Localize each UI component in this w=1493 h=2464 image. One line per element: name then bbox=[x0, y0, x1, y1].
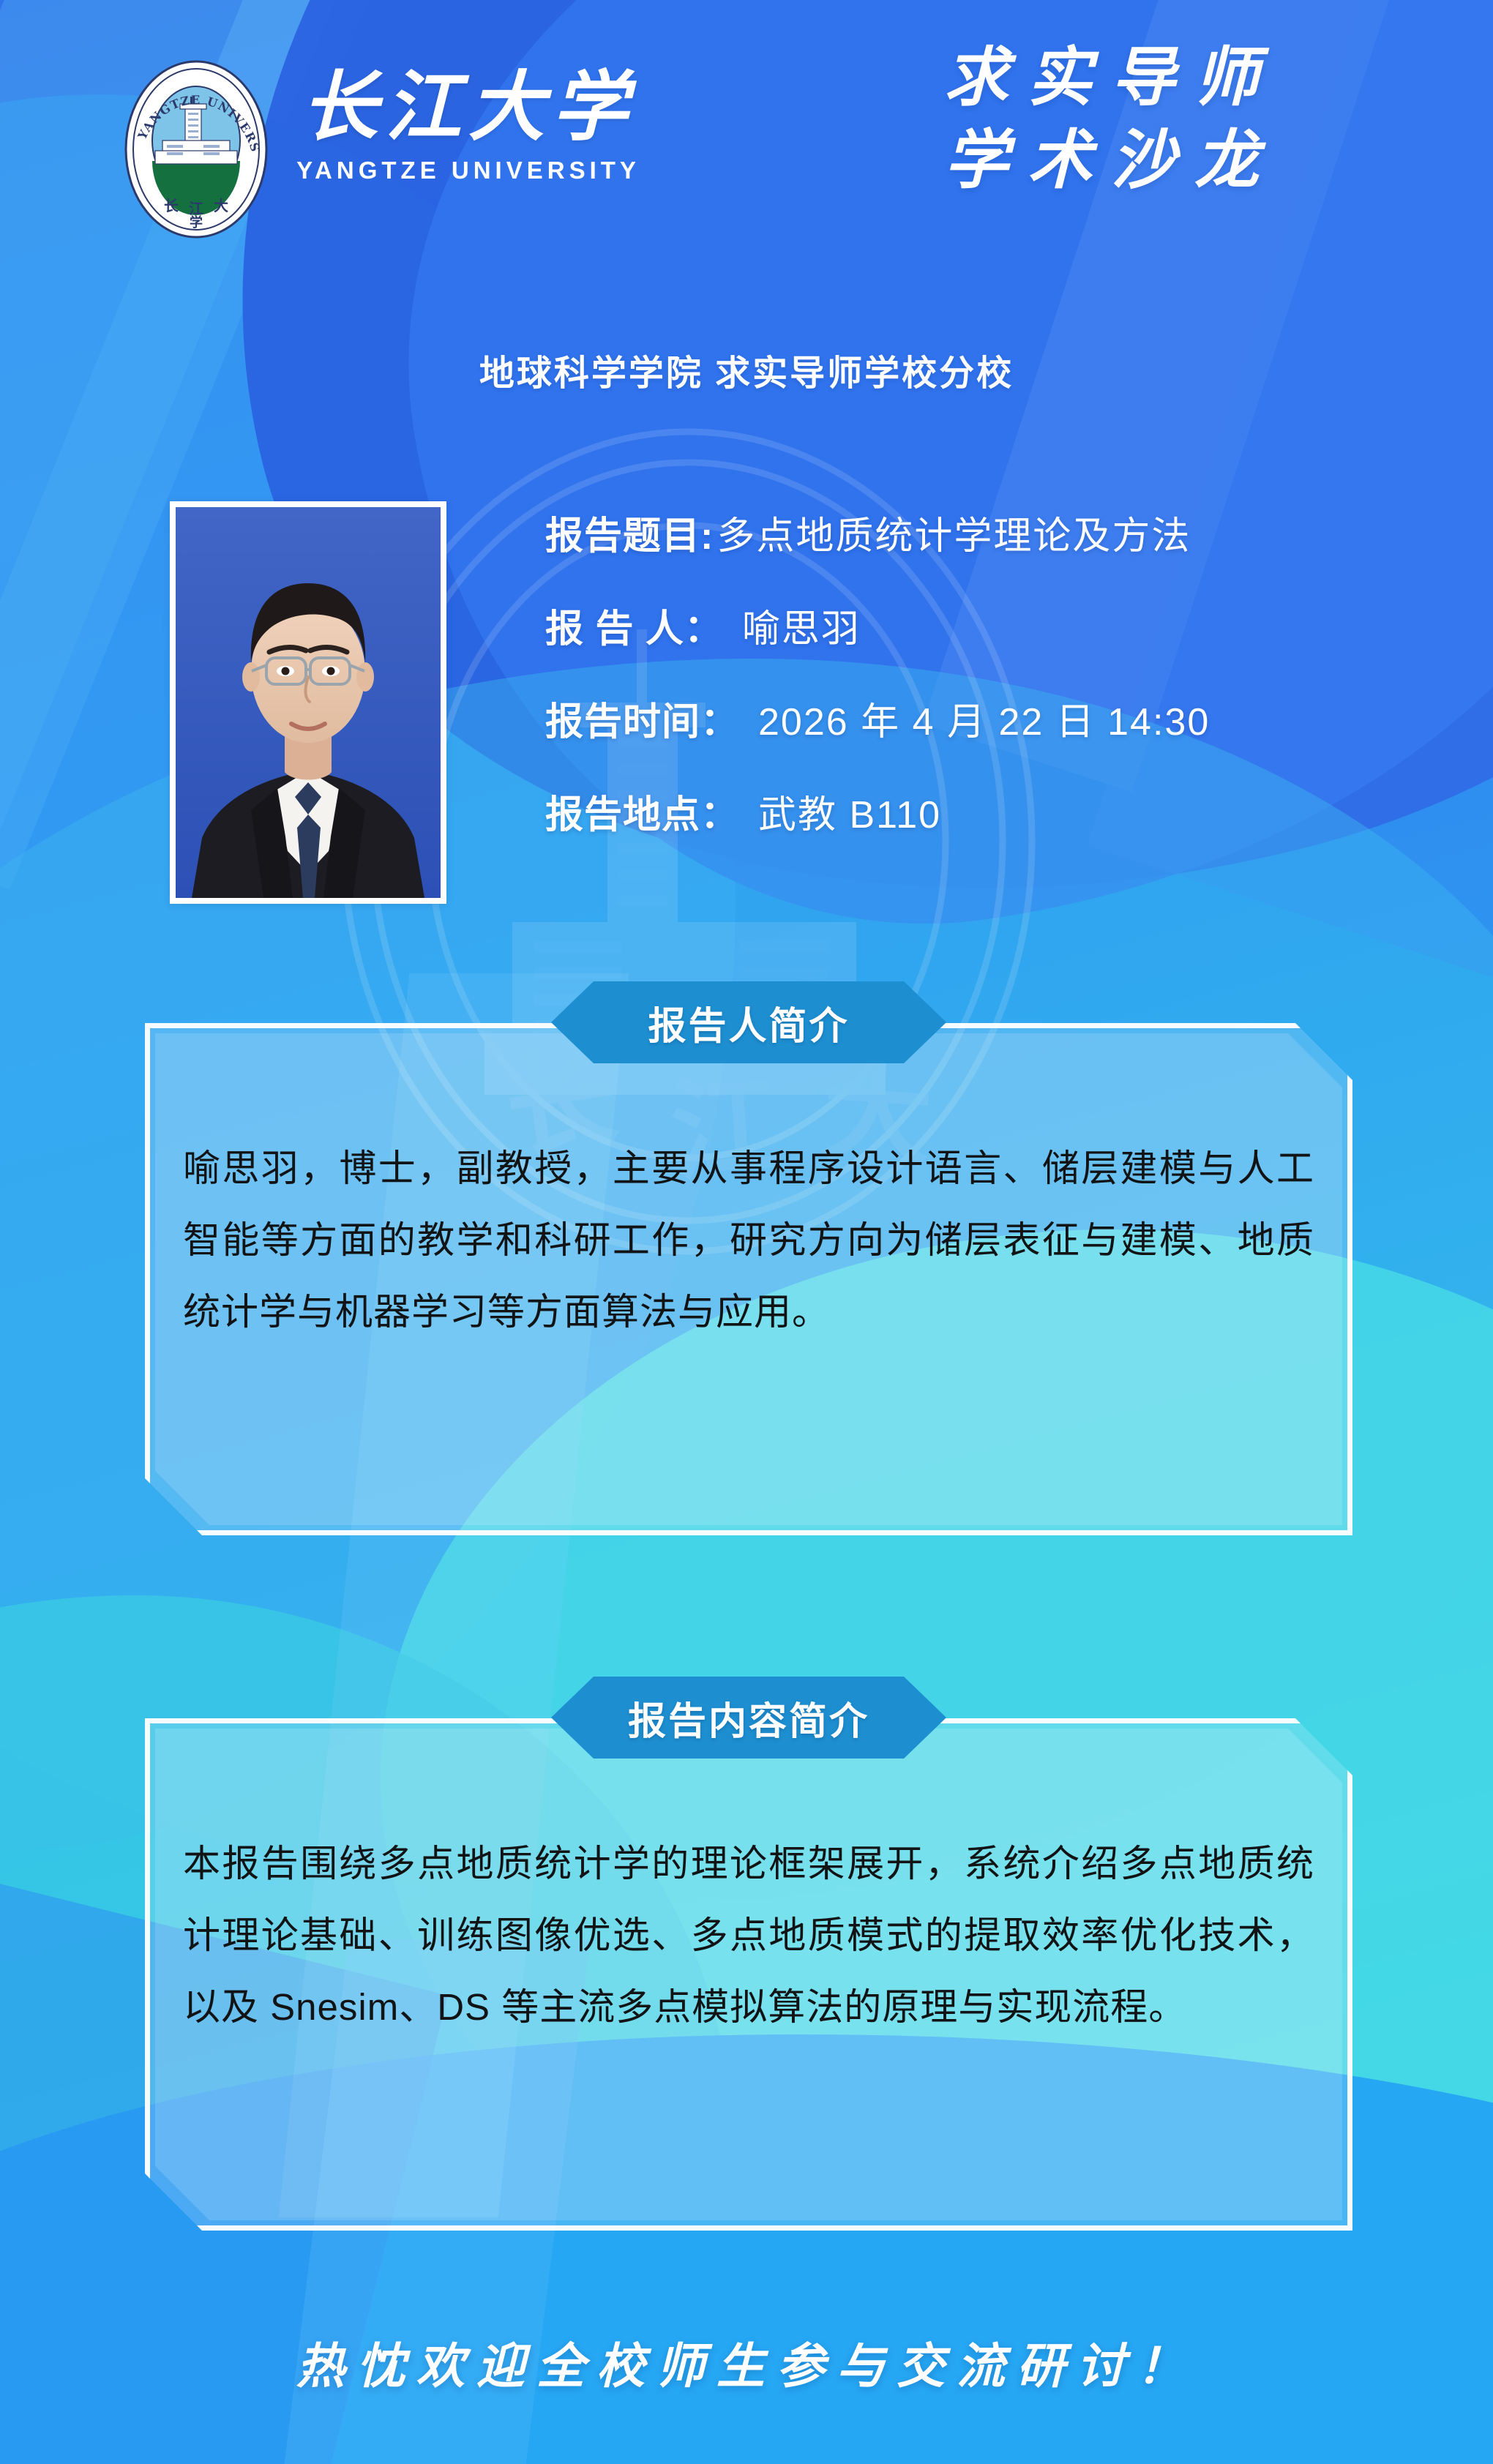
field-location-label: 报告地点： bbox=[545, 784, 739, 839]
salon-title-line2: 学术沙龙 bbox=[847, 121, 1374, 203]
abstract-banner: 报告内容简介 bbox=[551, 1677, 946, 1759]
salon-title-line1: 求实导师 bbox=[847, 38, 1374, 121]
field-title-value: 多点地质统计学理论及方法 bbox=[716, 505, 1191, 560]
speaker-photo-frame bbox=[170, 501, 446, 904]
field-speaker-label: 报 告 人： bbox=[545, 598, 723, 653]
svg-text:大: 大 bbox=[214, 197, 228, 214]
field-location-value: 武教 B110 bbox=[758, 784, 941, 839]
poster-subtitle: 地球科学学院 求实导师学校分校 bbox=[0, 344, 1493, 395]
poster-root: 长 江 大 bbox=[0, 0, 1493, 2464]
salon-title: 求实导师 学术沙龙 bbox=[847, 38, 1374, 203]
field-speaker-row: 报 告 人： 喻思羽 bbox=[545, 598, 1409, 653]
field-title-row: 报告题目: 多点地质统计学理论及方法 bbox=[545, 505, 1409, 560]
field-location-row: 报告地点： 武教 B110 bbox=[545, 784, 1409, 839]
university-crest-icon: YANGTZE UNIVERSITY 长 江 大 学 bbox=[123, 59, 269, 240]
speaker-photo bbox=[176, 507, 441, 898]
svg-text:学: 学 bbox=[190, 214, 203, 231]
section-speaker-bio: 报告人简介 喻思羽，博士，副教授，主要从事程序设计语言、储层建模与人工智能等方面… bbox=[145, 1023, 1352, 1535]
poster-footer: 热忱欢迎全校师生参与交流研讨！ bbox=[0, 2327, 1493, 2397]
field-title-label: 报告题目: bbox=[545, 505, 714, 560]
talk-info-fields: 报告题目: 多点地质统计学理论及方法 报 告 人： 喻思羽 报告时间： 2026… bbox=[545, 505, 1409, 839]
university-name-en: YANGTZE UNIVERSITY bbox=[293, 157, 644, 184]
field-time-label: 报告时间： bbox=[545, 691, 739, 746]
bio-body-text: 喻思羽，博士，副教授，主要从事程序设计语言、储层建模与人工智能等方面的教学和科研… bbox=[183, 1133, 1314, 1348]
bio-banner: 报告人简介 bbox=[551, 981, 946, 1063]
abstract-body-text: 本报告围绕多点地质统计学的理论框架展开，系统介绍多点地质统计理论基础、训练图像优… bbox=[183, 1828, 1314, 2043]
section-talk-abstract: 报告内容简介 本报告围绕多点地质统计学的理论框架展开，系统介绍多点地质统计理论基… bbox=[145, 1718, 1352, 2231]
university-name-cn: 长江大学 bbox=[293, 67, 644, 149]
field-time-value: 2026 年 4 月 22 日 14:30 bbox=[758, 691, 1210, 746]
bio-banner-label: 报告人简介 bbox=[648, 995, 849, 1050]
poster-header: YANGTZE UNIVERSITY 长 江 大 学 长江大学 YANGTZE … bbox=[0, 0, 1493, 351]
abstract-banner-label: 报告内容简介 bbox=[628, 1690, 869, 1745]
svg-text:长: 长 bbox=[164, 197, 179, 214]
field-speaker-value: 喻思羽 bbox=[742, 598, 861, 653]
university-name-block: 长江大学 YANGTZE UNIVERSITY bbox=[293, 67, 644, 184]
field-time-row: 报告时间： 2026 年 4 月 22 日 14:30 bbox=[545, 691, 1409, 746]
